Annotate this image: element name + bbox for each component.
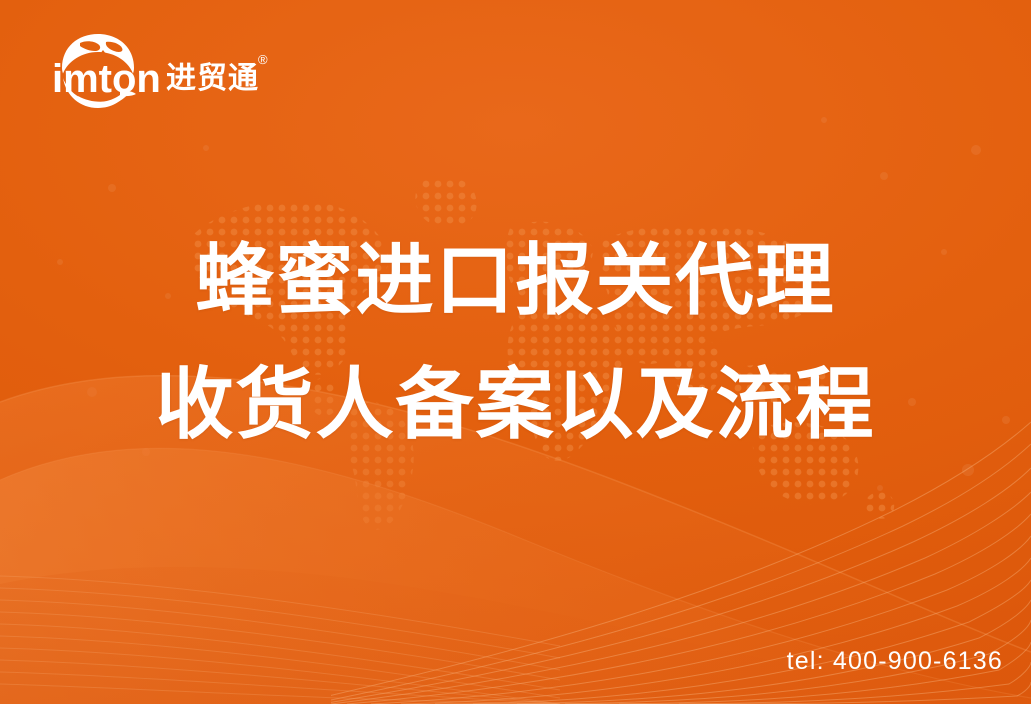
logo-latin-text: imton (52, 57, 161, 101)
logo-chinese-text: 进贸通 (166, 62, 259, 95)
hatch-lines (0, 554, 560, 704)
headline-block: 蜂蜜进口报关代理 收货人备案以及流程 (0, 218, 1031, 466)
poster-canvas: imton 进贸通 ® 蜂蜜进口报关代理 收货人备案以及流程 tel: 400-… (0, 0, 1031, 704)
headline-line-1: 蜂蜜进口报关代理 (0, 218, 1031, 342)
contact-phone: tel: 400-900-6136 (787, 647, 1003, 676)
brand-logo[interactable]: imton 进贸通 ® (44, 30, 274, 110)
headline-line-2: 收货人备案以及流程 (0, 342, 1031, 466)
trademark-symbol: ® (258, 52, 268, 67)
